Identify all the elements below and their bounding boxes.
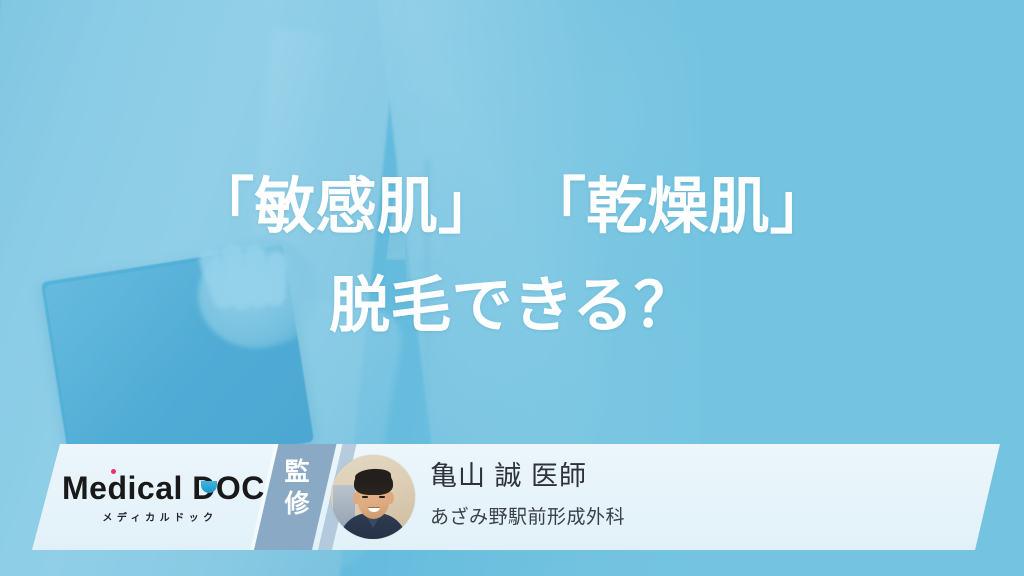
title-line-2: 脱毛できる？	[0, 275, 1024, 336]
avatar-ear-left	[353, 492, 360, 504]
medical-doc-logo[interactable]: Medical DOC メディカルドック	[62, 472, 258, 524]
avatar-ear-right	[387, 492, 394, 504]
title-sensitive-skin: 「敏感肌」	[193, 172, 499, 240]
avatar-eye-right	[379, 496, 385, 498]
doctor-name: 亀山 誠 医師	[430, 462, 625, 492]
title-dry-skin: 「乾燥肌」	[525, 172, 831, 240]
logo-wordmark: Medical DOC	[62, 472, 265, 504]
avatar-brow-left	[361, 491, 369, 493]
supervision-char-2: 修	[270, 488, 324, 520]
page-title: 「敏感肌」「乾燥肌」 脱毛できる？	[0, 176, 1024, 336]
logo-kana-text: メディカルドック	[62, 509, 258, 524]
logo-i-dot-icon	[111, 469, 116, 474]
supervision-label: 監 修	[270, 456, 324, 520]
supervision-char-1: 監	[270, 456, 324, 488]
doctor-credit: 亀山 誠 医師 あざみ野駅前形成外科	[430, 462, 625, 529]
logo-brand-text: Medical DOC	[62, 470, 265, 506]
avatar	[331, 455, 415, 539]
doctor-clinic: あざみ野駅前形成外科	[430, 502, 625, 529]
avatar-eye-left	[362, 496, 368, 498]
thumbnail-canvas: 「敏感肌」「乾燥肌」 脱毛できる？ 監 修 Medical DOC メディカルド…	[0, 0, 1024, 576]
title-line-1: 「敏感肌」「乾燥肌」	[0, 176, 1024, 237]
avatar-brow-right	[378, 491, 386, 493]
